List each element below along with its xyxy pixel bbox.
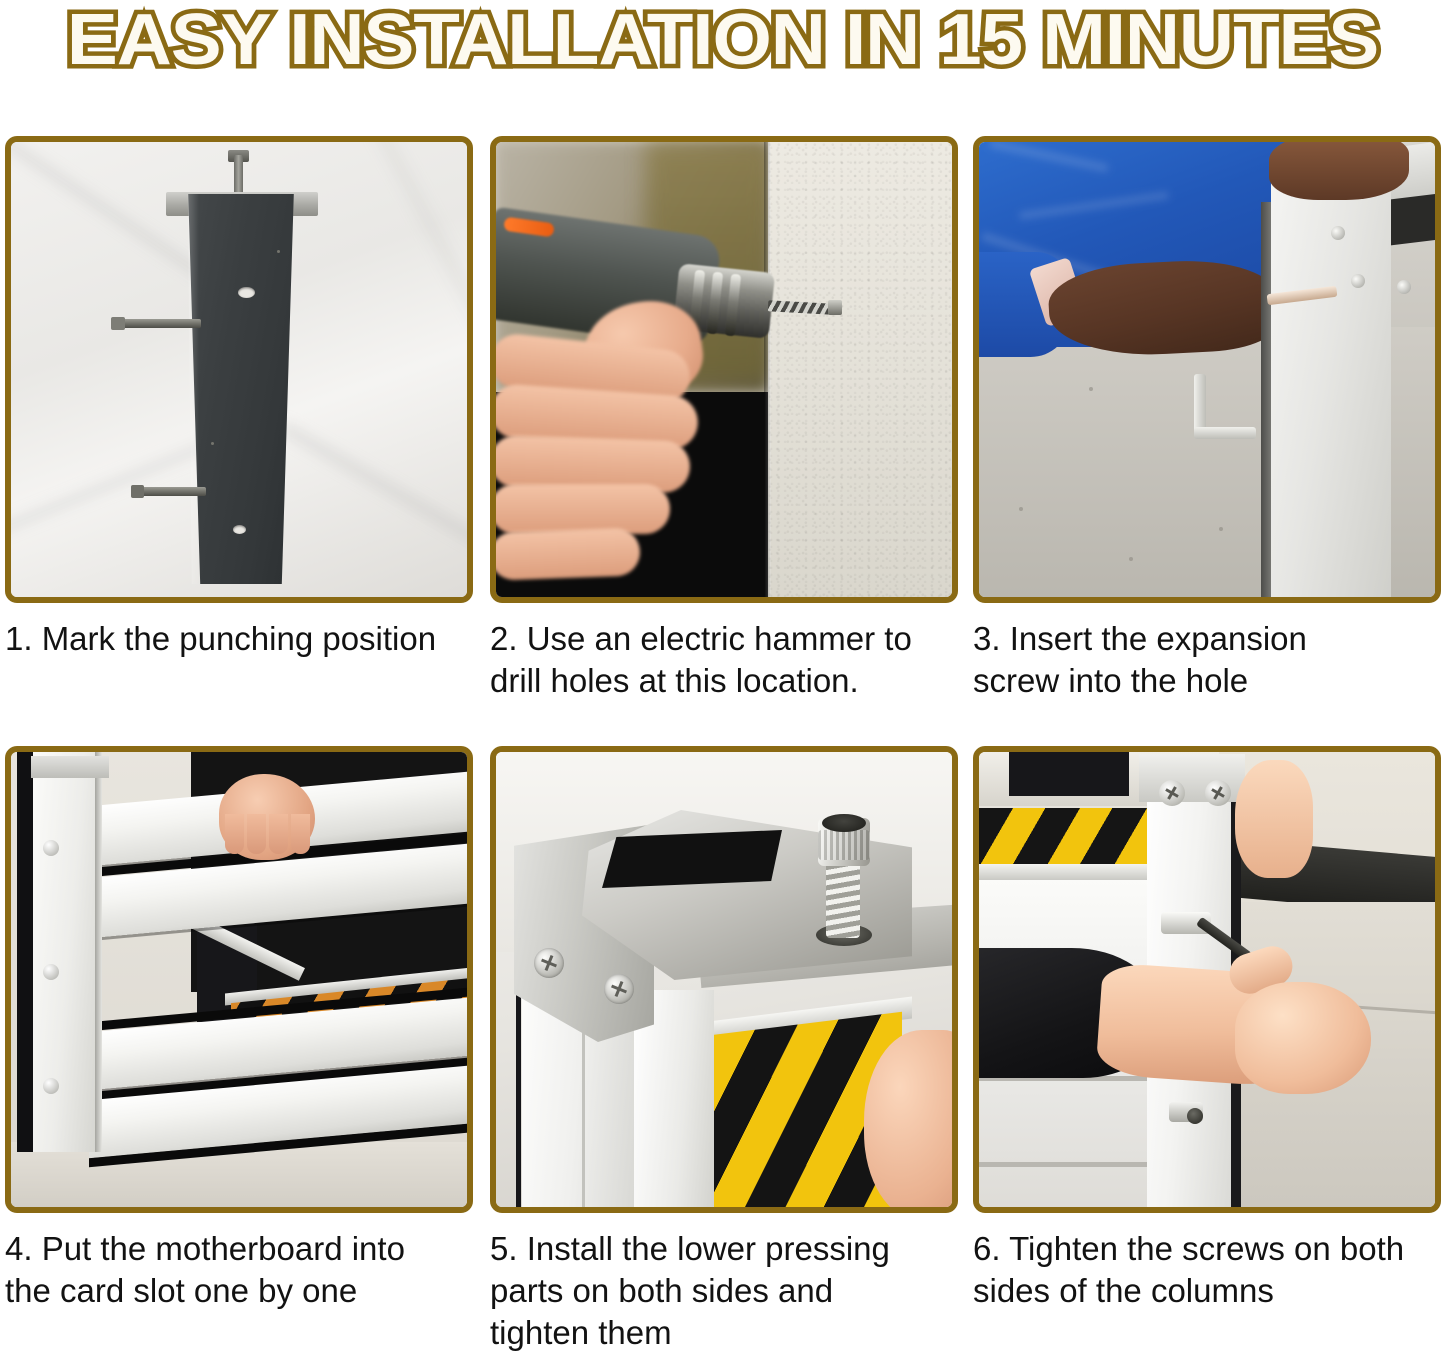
board-rail: [979, 864, 1147, 880]
drill-bit-tip: [828, 300, 842, 315]
step-card-5: 5. Install the lower pressing parts on b…: [490, 746, 958, 1213]
caption-line: 2. Use an electric hammer to: [490, 618, 960, 660]
step-photo-frame-4: [5, 746, 473, 1213]
threaded-rod: [234, 155, 243, 197]
bracket-screw: [534, 948, 564, 978]
step-caption-6: 6. Tighten the screws on both sides of t…: [973, 1228, 1443, 1312]
caption-line: drill holes at this location.: [490, 660, 960, 702]
column-screw: [43, 1078, 59, 1094]
column-edge: [95, 752, 102, 1152]
column-screw: [43, 840, 59, 856]
hand-finger: [269, 814, 288, 854]
step-caption-2: 2. Use an electric hammer to drill holes…: [490, 618, 960, 702]
step-card-3: 3. Insert the expansion screw into the h…: [973, 136, 1441, 603]
hand-finger: [496, 484, 670, 534]
board-seam: [979, 1162, 1159, 1167]
top-rail-shadow: [1009, 752, 1129, 796]
mounting-hole: [233, 525, 246, 534]
step-card-6: 6. Tighten the screws on both sides of t…: [973, 746, 1441, 1213]
step-photo-frame-2: [490, 136, 958, 603]
cloth-fold: [371, 142, 467, 334]
caption-line: the card slot one by one: [5, 1270, 475, 1312]
mounting-hole: [238, 287, 255, 298]
floor-speck: [1129, 557, 1133, 561]
floor-speck: [1019, 507, 1023, 511]
caption-line: 5. Install the lower pressing: [490, 1228, 960, 1270]
installation-steps-grid: 1. Mark the punching position: [0, 0, 1445, 1352]
step-card-2: 2. Use an electric hammer to drill holes…: [490, 136, 958, 603]
step-card-1: 1. Mark the punching position: [5, 136, 473, 603]
thumb-bolt-socket-top: [822, 814, 866, 832]
bolt-head: [131, 485, 144, 498]
caption-line: tighten them: [490, 1312, 960, 1354]
column-screw: [1159, 780, 1185, 806]
hand-finger: [496, 527, 641, 580]
surface-speck: [277, 250, 280, 253]
caption-line: sides of the columns: [973, 1270, 1443, 1312]
expansion-bolt: [116, 319, 201, 328]
column-screw: [1331, 226, 1345, 240]
step-photo-1: [11, 142, 467, 597]
screw-socket: [1187, 1108, 1203, 1124]
step-photo-frame-1: [5, 136, 473, 603]
column-screw: [1397, 280, 1411, 294]
column-screw: [1205, 780, 1231, 806]
cloth-fold: [280, 423, 467, 592]
floor-speck: [1089, 387, 1093, 391]
step-caption-5: 5. Install the lower pressing parts on b…: [490, 1228, 960, 1354]
caption-line: 1. Mark the punching position: [5, 618, 475, 660]
step-photo-2: [496, 142, 952, 597]
caption-line: screw into the hole: [973, 660, 1443, 702]
column-screw: [43, 964, 59, 980]
white-column-post: [33, 752, 95, 1152]
caption-line: 6. Tighten the screws on both: [973, 1228, 1443, 1270]
step-photo-6: [979, 752, 1435, 1207]
step-photo-frame-3: [973, 136, 1441, 603]
hand-finger: [291, 814, 310, 854]
step-photo-4: [11, 752, 467, 1207]
fabric-fold: [1019, 192, 1169, 220]
step-photo-frame-5: [490, 746, 958, 1213]
hand-finger: [247, 814, 266, 854]
step-photo-3: [979, 142, 1435, 597]
thumb-bolt-knurling: [818, 830, 870, 860]
caption-line: 4. Put the motherboard into: [5, 1228, 475, 1270]
bracket-screw: [604, 974, 634, 1004]
step-caption-1: 1. Mark the punching position: [5, 618, 475, 660]
surface-speck: [211, 442, 214, 445]
textured-wall: [768, 142, 952, 597]
worker-hand: [1235, 982, 1371, 1094]
step-caption-4: 4. Put the motherboard into the card slo…: [5, 1228, 475, 1312]
fabric-fold: [989, 142, 1108, 172]
post-highlight: [183, 194, 199, 584]
step-photo-frame-6: [973, 746, 1441, 1213]
hex-wrench: [1194, 427, 1256, 439]
worker-hand: [1269, 142, 1409, 200]
thumb-bolt-thread: [826, 860, 860, 938]
bolt-head: [111, 317, 125, 330]
column-screw: [1351, 274, 1365, 288]
column-top-plate: [31, 756, 109, 778]
caption-line: parts on both sides and: [490, 1270, 960, 1312]
hazard-stripe-board: [979, 808, 1147, 864]
supporting-hand: [1235, 760, 1313, 878]
wall-edge: [764, 142, 771, 597]
bracket-slot: [602, 830, 782, 888]
step-caption-3: 3. Insert the expansion screw into the h…: [973, 618, 1443, 702]
step-card-4: 4. Put the motherboard into the card slo…: [5, 746, 473, 1213]
expansion-bolt: [136, 487, 206, 496]
hand-finger: [225, 814, 244, 854]
caption-line: 3. Insert the expansion: [973, 618, 1443, 660]
floor-speck: [1219, 527, 1223, 531]
white-column-post: [1271, 180, 1391, 597]
step-photo-5: [496, 752, 952, 1207]
